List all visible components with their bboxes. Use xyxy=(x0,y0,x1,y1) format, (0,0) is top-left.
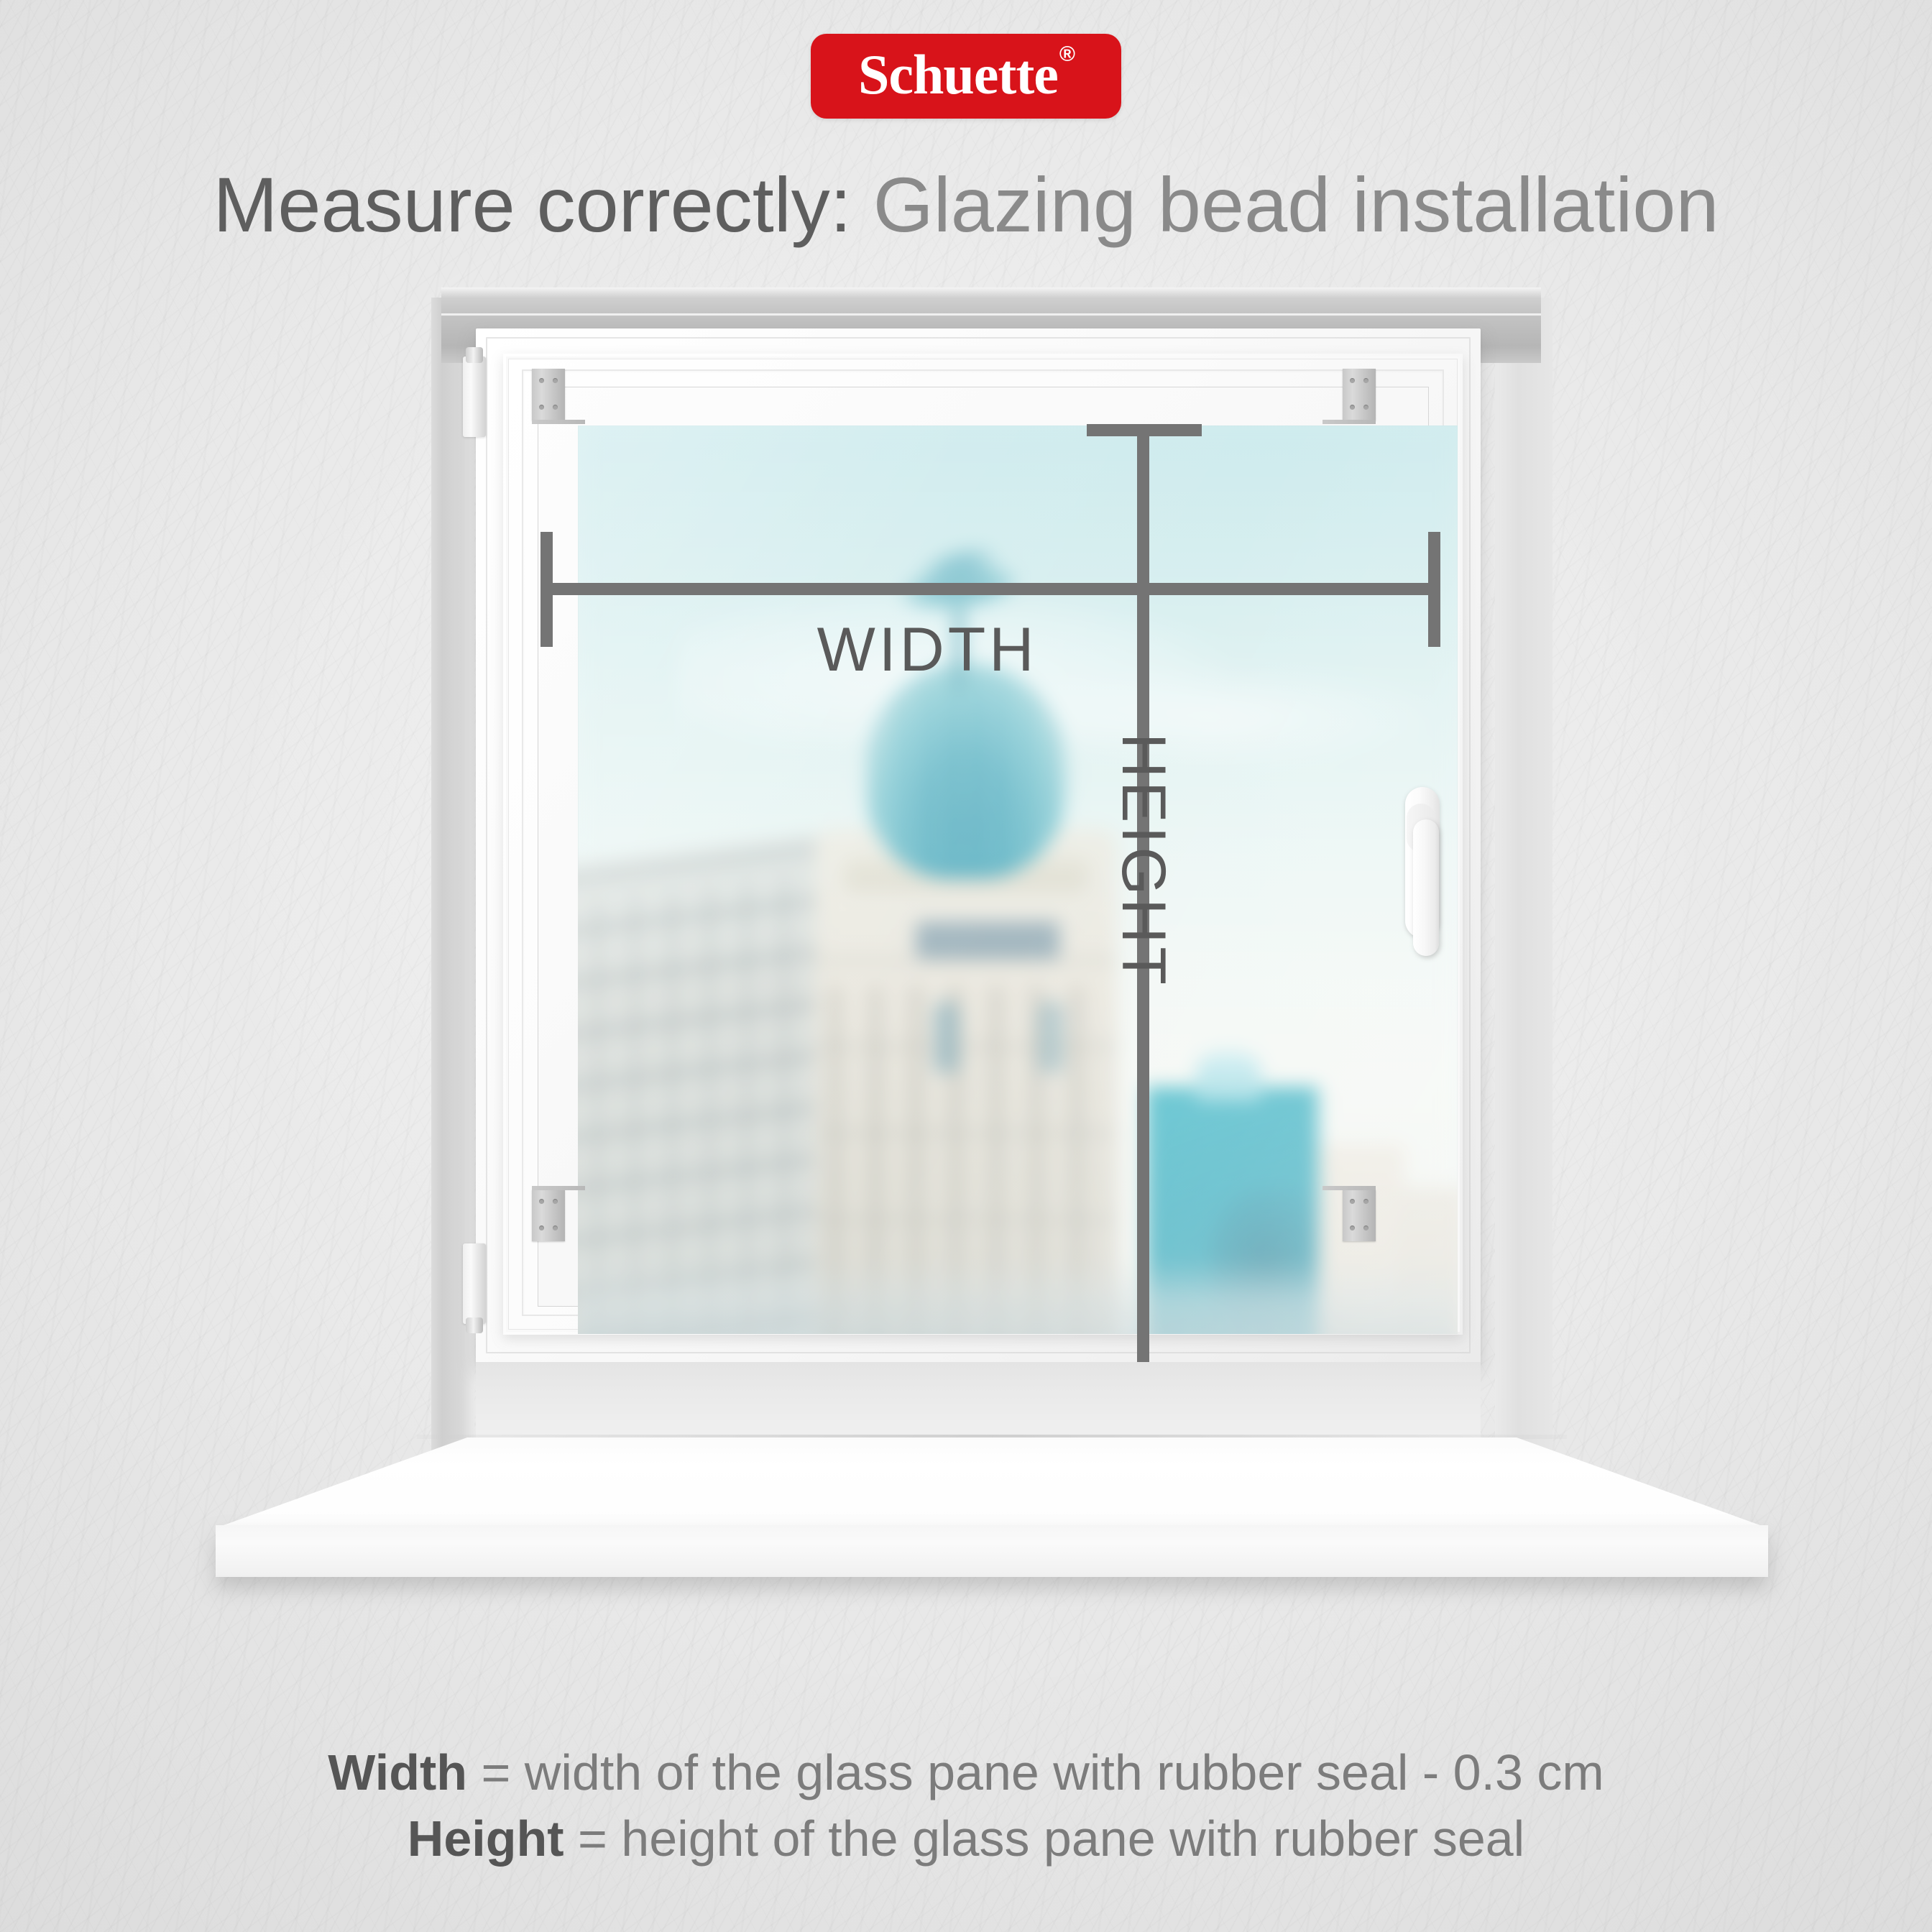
bracket-foot xyxy=(532,1186,585,1190)
window-sash xyxy=(503,354,1463,1335)
screw-hole-icon xyxy=(1350,378,1355,383)
glazing-bracket-top-right xyxy=(1343,369,1376,420)
screw-hole-icon xyxy=(553,405,558,410)
screw-hole-icon xyxy=(553,1199,558,1204)
legend-width-key: Width xyxy=(328,1744,467,1800)
window-hinge-top xyxy=(463,356,486,437)
screw-hole-icon xyxy=(553,1225,558,1230)
window-handle-lever[interactable] xyxy=(1413,819,1439,956)
brand-name: Schuette xyxy=(858,47,1058,103)
screw-hole-icon xyxy=(1363,405,1368,410)
glazing-bead xyxy=(538,387,1429,1307)
glazing-bracket-top-left xyxy=(532,369,565,420)
glass-reflection xyxy=(578,425,1458,1334)
page-title: Measure correctly: Glazing bead installa… xyxy=(0,164,1932,245)
bracket-foot xyxy=(532,420,585,424)
legend-line-width: Width = width of the glass pane with rub… xyxy=(0,1739,1932,1805)
hinge-pin-icon xyxy=(466,347,483,363)
page-title-light: Glazing bead installation xyxy=(852,161,1719,248)
legend: Width = width of the glass pane with rub… xyxy=(0,1739,1932,1872)
screw-hole-icon xyxy=(1363,1225,1368,1230)
glazing-bracket-bottom-right xyxy=(1343,1190,1376,1241)
page-title-strong: Measure correctly: xyxy=(213,161,851,248)
legend-width-text: = width of the glass pane with rubber se… xyxy=(467,1744,1604,1800)
screw-hole-icon xyxy=(1363,1199,1368,1204)
sill-recess xyxy=(476,1362,1481,1441)
glazing-bracket-bottom-left xyxy=(532,1190,565,1241)
screw-hole-icon xyxy=(1350,405,1355,410)
registered-trademark-icon: ® xyxy=(1059,42,1075,67)
screw-hole-icon xyxy=(1350,1225,1355,1230)
screw-hole-icon xyxy=(539,1225,544,1230)
screw-hole-icon xyxy=(1350,1199,1355,1204)
window-sill-top xyxy=(216,1437,1768,1528)
legend-height-text: = height of the glass pane with rubber s… xyxy=(564,1811,1525,1867)
screw-hole-icon xyxy=(1363,378,1368,383)
window-illustration: WIDTH HEIGHT xyxy=(431,287,1552,1711)
screw-hole-icon xyxy=(539,1199,544,1204)
glass-pane xyxy=(578,425,1458,1334)
legend-height-key: Height xyxy=(408,1811,564,1867)
window-reveal-top-edge xyxy=(441,313,1541,316)
hinge-pin-icon xyxy=(466,1317,483,1333)
bracket-foot xyxy=(1322,420,1376,424)
screw-hole-icon xyxy=(539,405,544,410)
legend-line-height: Height = height of the glass pane with r… xyxy=(0,1805,1932,1872)
window-sill-front xyxy=(216,1525,1768,1577)
window-hinge-bottom xyxy=(463,1243,486,1324)
screw-hole-icon xyxy=(553,378,558,383)
screw-hole-icon xyxy=(539,378,544,383)
window-reveal-right xyxy=(1495,298,1552,1548)
bracket-foot xyxy=(1322,1186,1376,1190)
brand-logo: Schuette® xyxy=(811,34,1121,119)
infographic-canvas: Schuette® Measure correctly: Glazing bea… xyxy=(0,0,1932,1932)
window-reveal-left xyxy=(431,298,474,1548)
